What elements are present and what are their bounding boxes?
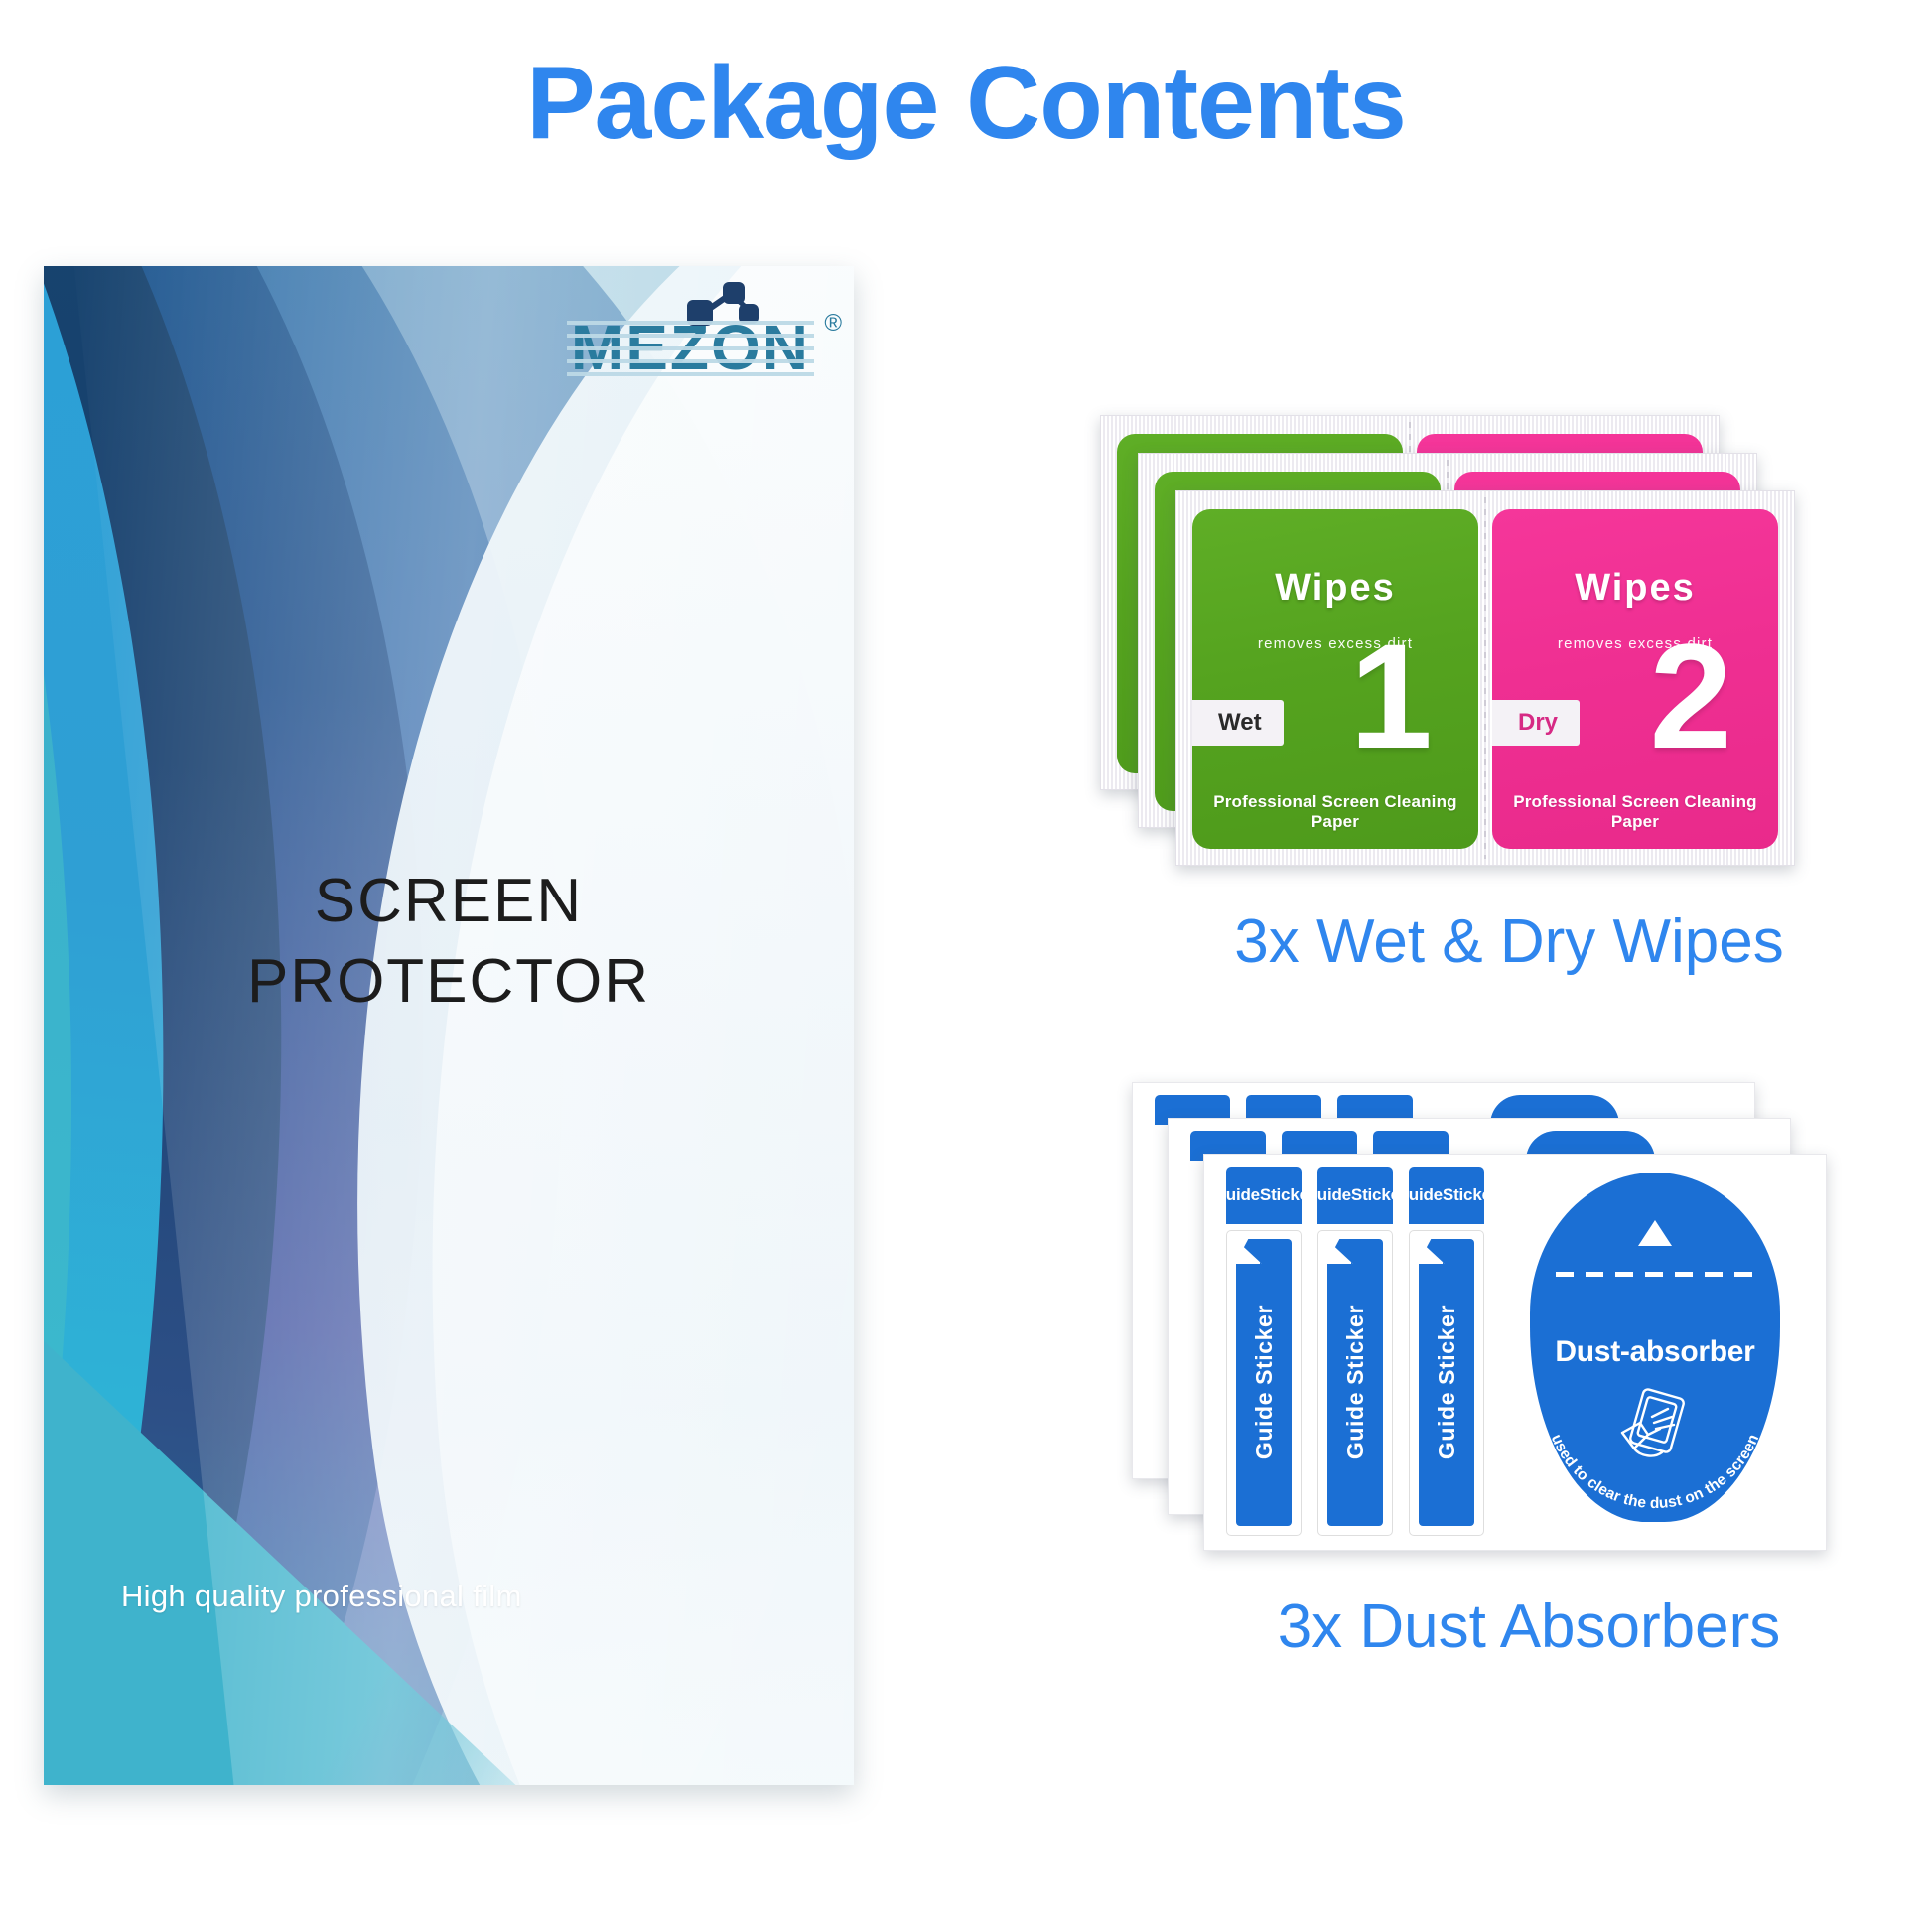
guide-sticker-label: Guide Sticker [1251,1305,1278,1459]
guide-sticker: GuideSticker Guide Sticker [1317,1167,1393,1536]
package-card: MEZON ® SCREEN PROTECTOR High quality pr… [44,266,854,1785]
tear-line [1556,1272,1754,1277]
wipes-footer: Professional Screen Cleaning Paper [1192,792,1478,832]
product-name: SCREEN PROTECTOR [44,862,854,1022]
wipes-type-tab: Dry [1492,700,1580,746]
dust-absorbers-caption: 3x Dust Absorbers [1132,1596,1926,1658]
wipes-caption: 3x Wet & Dry Wipes [1100,911,1918,973]
product-name-line2: PROTECTOR [44,942,854,1023]
triangle-icon [1638,1220,1672,1246]
wipes-step-number: 2 [1649,621,1731,770]
wipes-subheading: removes excess dirt [1192,635,1478,652]
wipes-green-panel: Wipes removes excess dirt 1 Wet Professi… [1192,509,1478,849]
wipes-pink-panel: Wipes removes excess dirt 2 Dry Professi… [1492,509,1778,849]
guide-sticker-label: Guide Sticker [1342,1305,1369,1459]
registered-mark: ® [824,310,842,338]
guide-sticker-head-label: GuideSticker [1409,1167,1484,1224]
wipes-type-tab: Wet [1192,700,1284,746]
dust-absorber-title: Dust-absorber [1530,1335,1780,1369]
dust-absorber-tag: Dust-absorber [1530,1173,1780,1522]
wipes-perforation-seam [1484,497,1486,859]
brand-logo: MEZON ® [44,316,854,379]
wipes-subheading: removes excess dirt [1492,635,1778,652]
product-tagline: High quality professional film [121,1579,522,1614]
guide-sticker-head-label: GuideSticker [1317,1167,1393,1224]
dust-sheet-front: GuideSticker Guide Sticker GuideSticker … [1203,1154,1827,1551]
page-title: Package Contents [0,52,1932,155]
guide-sticker-head-label: GuideSticker [1226,1167,1302,1224]
dust-absorber-arc-text: used to clear the dust on the screen [1530,1367,1780,1516]
wipes-sheet-front: Wipes removes excess dirt 1 Wet Professi… [1175,490,1795,866]
guide-sticker: GuideSticker Guide Sticker [1226,1167,1302,1536]
brand-wordmark: MEZON [571,312,810,383]
wipes-footer: Professional Screen Cleaning Paper [1492,792,1778,832]
wipes-heading: Wipes [1492,567,1778,610]
product-name-line1: SCREEN [44,862,854,942]
guide-sticker: GuideSticker Guide Sticker [1409,1167,1484,1536]
wipes-heading: Wipes [1192,567,1478,610]
dust-absorber-tag-column: Dust-absorber [1500,1167,1810,1536]
wipes-group: Wipes removes excess dirt 1 Wet Professi… [1100,415,1918,892]
guide-sticker-label: Guide Sticker [1434,1305,1460,1459]
dust-absorbers-group: GuideSticker Guide Sticker GuideSticker … [1132,1082,1926,1598]
svg-text:used to clear the dust on the: used to clear the dust on the screen [1548,1432,1763,1512]
wipes-step-number: 1 [1349,621,1432,770]
